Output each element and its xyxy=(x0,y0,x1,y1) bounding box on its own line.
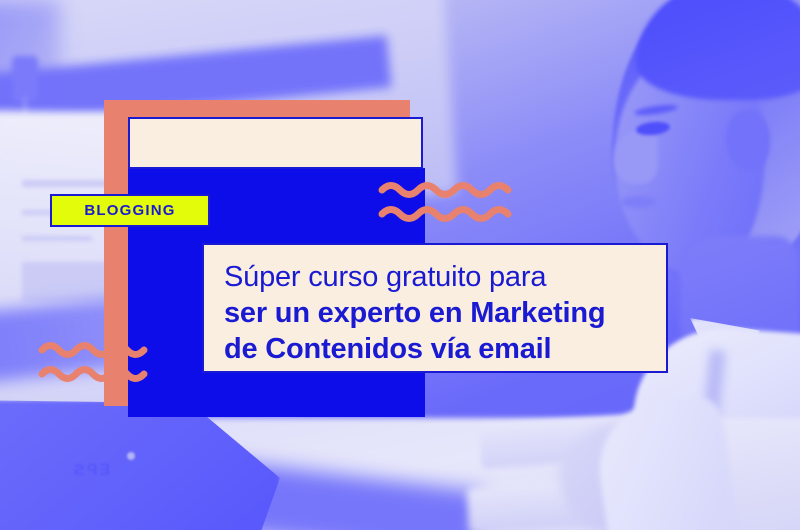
person-nose xyxy=(614,130,658,184)
device-indicator-dot xyxy=(127,452,135,460)
person-ear xyxy=(726,110,770,170)
title-line-2: ser un experto en Marketing xyxy=(224,295,646,331)
person-lips xyxy=(621,196,657,208)
banner-canvas: EPS BLOGGING Súper curso gratuito para s… xyxy=(0,0,800,530)
monitor-ui-line xyxy=(22,236,92,241)
logo-bar xyxy=(128,117,423,169)
person-hair xyxy=(636,0,800,100)
title-line-1: Súper curso gratuito para xyxy=(224,259,646,295)
wave-squiggle-right-icon xyxy=(378,178,528,226)
title-line-3: de Contenidos vía email xyxy=(224,331,646,367)
wave-squiggle-left-icon xyxy=(38,338,168,386)
title-card: Súper curso gratuito para ser un experto… xyxy=(202,243,668,373)
category-badge[interactable]: BLOGGING xyxy=(50,194,210,227)
device-label: EPS xyxy=(66,462,110,479)
monitor-ui-line xyxy=(22,180,112,187)
category-badge-label: BLOGGING xyxy=(84,202,175,219)
